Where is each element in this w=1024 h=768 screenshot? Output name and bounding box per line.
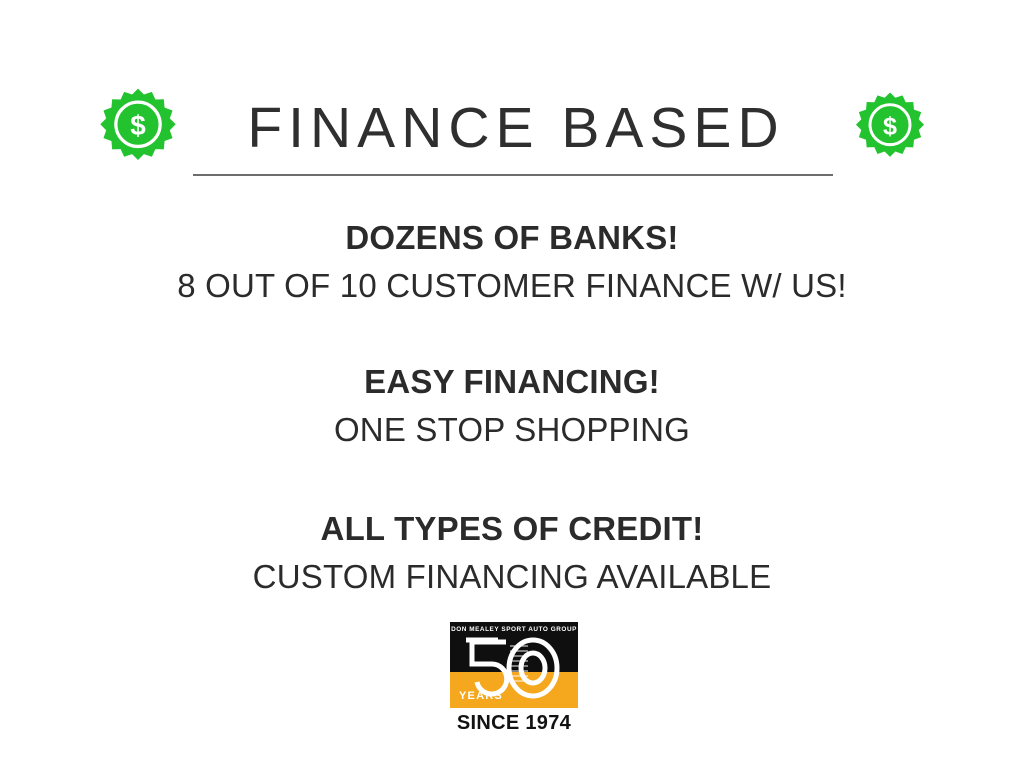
copy-block-credit: ALL TYPES OF CREDIT! CUSTOM FINANCING AV…	[0, 505, 1024, 601]
page-title: FINANCE BASED	[187, 100, 845, 157]
slide-canvas: $ FINANCE BASED $	[0, 0, 1024, 768]
header: $ FINANCE BASED $	[0, 78, 1024, 178]
gear-dollar-icon: $	[97, 87, 179, 169]
copy-block-banks: DOZENS OF BANKS! 8 OUT OF 10 CUSTOMER FI…	[0, 214, 1024, 310]
copy-subline: CUSTOM FINANCING AVAILABLE	[0, 553, 1024, 601]
logo-since-text: SINCE 1974	[450, 712, 578, 735]
logo-group-name: DON MEALEY SPORT AUTO GROUP	[450, 626, 578, 633]
svg-text:$: $	[883, 112, 897, 140]
dealer-logo: DON MEALEY SPORT AUTO GROUP	[450, 622, 578, 735]
copy-headline: EASY FINANCING!	[0, 358, 1024, 406]
page-title-wrap: FINANCE BASED	[179, 100, 853, 157]
copy-subline: ONE STOP SHOPPING	[0, 406, 1024, 454]
gear-dollar-icon: $	[853, 91, 927, 165]
copy-spacer	[0, 479, 1024, 505]
logo-anniversary-unit: YEARS	[459, 690, 503, 702]
copy-headline: DOZENS OF BANKS!	[0, 214, 1024, 262]
copy-block-easy-financing: EASY FINANCING! ONE STOP SHOPPING	[0, 358, 1024, 454]
logo-mark: DON MEALEY SPORT AUTO GROUP	[450, 622, 578, 708]
copy-subline: 8 OUT OF 10 CUSTOMER FINANCE W/ US!	[0, 262, 1024, 310]
copy-headline: ALL TYPES OF CREDIT!	[0, 505, 1024, 553]
copy-spacer	[0, 336, 1024, 358]
title-divider	[193, 174, 833, 176]
body-copy: DOZENS OF BANKS! 8 OUT OF 10 CUSTOMER FI…	[0, 214, 1024, 601]
svg-text:$: $	[130, 110, 146, 141]
